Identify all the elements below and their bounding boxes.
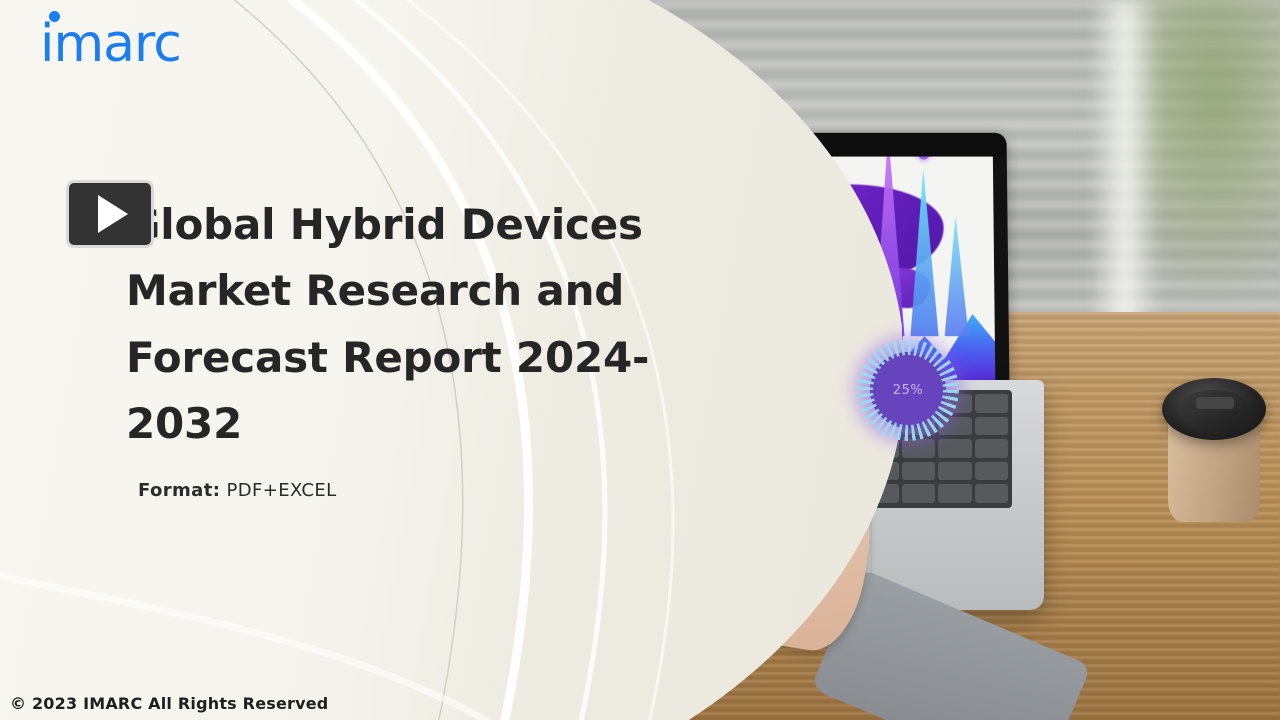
format-line: Format: PDF+EXCEL — [138, 480, 337, 501]
format-value: PDF+EXCEL — [226, 480, 336, 501]
gauge-25: 25% — [870, 352, 946, 428]
copyright-footer: © 2023 IMARC All Rights Reserved — [10, 694, 328, 713]
background-pillar — [1090, 0, 1160, 330]
page-title: Global Hybrid Devices Market Research an… — [126, 192, 656, 457]
play-video-button[interactable] — [66, 180, 154, 248]
play-icon — [98, 195, 128, 233]
format-label: Format: — [138, 480, 220, 501]
logo-dot-icon — [49, 11, 60, 22]
coffee-cup — [1162, 378, 1266, 524]
gauge-25-label: 25% — [893, 383, 923, 398]
hero-content: imarc Global Hybrid Devices Market Resea… — [0, 0, 700, 720]
imarc-logo[interactable]: imarc — [40, 18, 181, 70]
logo-text: imarc — [40, 18, 181, 70]
